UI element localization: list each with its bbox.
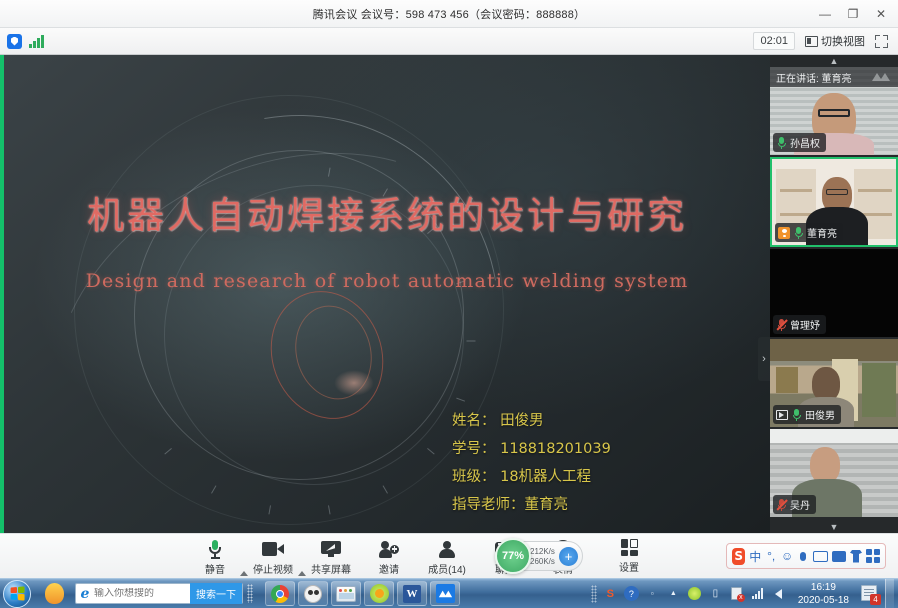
memory-usage-indicator[interactable]: 77%	[495, 538, 531, 574]
microphone-icon	[208, 539, 222, 559]
participant-tile[interactable]: 曾理妤	[770, 249, 898, 337]
settings-label: 设置	[619, 559, 639, 574]
stop-video-button[interactable]: 停止视频	[244, 536, 302, 576]
signal-tray-icon[interactable]	[750, 586, 765, 601]
members-label: 成员(14)	[428, 561, 466, 576]
speed-boost-button[interactable]: +	[559, 547, 578, 566]
share-screen-button[interactable]: 共享屏幕	[302, 536, 360, 576]
mute-label: 静音	[205, 561, 225, 576]
keyboard-icon[interactable]	[813, 548, 828, 564]
layout-icon	[805, 36, 818, 47]
participant-name: 曾理妤	[790, 317, 820, 332]
meeting-sub-toolbar: 02:01 切换视图	[0, 28, 898, 55]
window-controls: — ❐ ✕	[812, 0, 894, 28]
participant-tile[interactable]: 正在讲话: 董育亮 孙昌权	[770, 67, 898, 155]
window-title: 腾讯会议 会议号：598 473 456（会议密码：888888）	[313, 6, 586, 22]
sogou-ime-toolbar[interactable]: S 中 °, ☺	[726, 543, 886, 569]
network-tray-icon[interactable]: ▫	[645, 586, 660, 601]
scroll-up-arrow[interactable]: ▲	[770, 55, 898, 67]
collapse-panel-handle[interactable]: ›	[758, 337, 770, 381]
window-titlebar: 腾讯会议 会议号：598 473 456（会议密码：888888） — ❐ ✕	[0, 0, 898, 28]
taskbar-clock[interactable]: 16:19 2020-05-18	[792, 581, 855, 607]
explorer-icon[interactable]	[331, 581, 361, 606]
taskbar-search-box[interactable]: e 搜索一下	[75, 583, 243, 604]
slide-info-name: 姓名： 田俊男	[452, 407, 611, 435]
slide-info-class: 班级： 18机器人工程	[452, 463, 611, 491]
tray-grip-handle[interactable]	[591, 585, 597, 603]
toolbox-icon[interactable]	[832, 548, 846, 564]
participant-tile-active[interactable]: 董育亮	[770, 157, 898, 247]
participant-label: 孙昌权	[773, 133, 826, 152]
notification-count: 4	[870, 594, 881, 605]
word-icon[interactable]: W	[397, 581, 427, 606]
notification-center-icon[interactable]: 4	[861, 585, 879, 603]
upload-speed-value: 212K/s	[530, 547, 555, 556]
360-tray-icon[interactable]	[687, 586, 702, 601]
meeting-timer: 02:01	[753, 32, 795, 50]
360-security-icon[interactable]	[364, 581, 394, 606]
fullscreen-icon[interactable]	[875, 35, 888, 48]
shared-screen-slide[interactable]: 机器人自动焊接系统的设计与研究 Design and research of r…	[4, 55, 770, 533]
settings-button[interactable]: 设置	[600, 539, 658, 574]
mute-button[interactable]: 静音	[186, 536, 244, 576]
slide-title: 机器人自动焊接系统的设计与研究	[4, 185, 770, 239]
sub-toolbar-left	[0, 34, 44, 49]
sogou-tray-icon[interactable]: S	[603, 586, 618, 601]
sogou-logo-icon[interactable]: S	[732, 548, 745, 565]
system-tray: S ? ▫ ▲ ▯ x	[591, 579, 898, 608]
clock-date: 2020-05-18	[798, 594, 849, 607]
tencent-meeting-window: 腾讯会议 会议号：598 473 456（会议密码：888888） — ❐ ✕ …	[0, 0, 898, 608]
ime-punctuation-toggle[interactable]: °,	[765, 548, 777, 564]
share-screen-icon	[321, 539, 341, 559]
meeting-stage: 机器人自动焊接系统的设计与研究 Design and research of r…	[0, 55, 898, 533]
maximize-button[interactable]: ❐	[840, 3, 866, 25]
view-switch-button[interactable]: 切换视图	[805, 33, 865, 49]
slide-info-block: 姓名： 田俊男 学号： 118818201039 班级： 18机器人工程 指导老…	[452, 407, 611, 519]
minimize-button[interactable]: —	[812, 3, 838, 25]
invite-button[interactable]: 邀请	[360, 536, 418, 576]
close-button[interactable]: ✕	[868, 3, 894, 25]
ime-emoji-icon[interactable]: ☺	[781, 548, 793, 564]
download-speed-value: 260K/s	[530, 557, 555, 566]
device-tray-icon[interactable]: ▯	[708, 586, 723, 601]
settings-grid-icon	[621, 539, 638, 556]
participant-name: 田俊男	[805, 407, 835, 422]
participant-video-strip: ▲ 正在讲话: 董育亮 孙昌权	[770, 55, 898, 533]
signal-bars-icon[interactable]	[29, 35, 44, 48]
up-arrow-tray-icon[interactable]: ▲	[666, 586, 681, 601]
share-screen-label: 共享屏幕	[311, 561, 351, 576]
taskbar-app-buttons: W	[265, 581, 460, 606]
members-button[interactable]: 成员(14)	[418, 536, 476, 576]
slide-info-student-id: 学号： 118818201039	[452, 435, 611, 463]
stop-video-label: 停止视频	[253, 561, 293, 576]
view-switch-label: 切换视图	[821, 33, 865, 49]
slide-info-advisor: 指导老师：董育亮	[452, 491, 611, 519]
tencent-meeting-icon[interactable]	[430, 581, 460, 606]
game-icon[interactable]	[298, 581, 328, 606]
participant-name: 董育亮	[807, 225, 837, 240]
members-icon	[438, 539, 456, 559]
qq-icon[interactable]	[39, 581, 69, 606]
windows-start-orb[interactable]	[3, 580, 31, 608]
skin-icon[interactable]	[850, 548, 862, 564]
host-badge-icon	[778, 227, 790, 239]
microphone-icon[interactable]	[797, 548, 809, 564]
clock-time: 16:19	[798, 581, 849, 594]
microphone-icon	[793, 227, 804, 239]
microphone-muted-icon	[776, 319, 787, 331]
microphone-icon	[776, 137, 787, 149]
shield-icon[interactable]	[7, 34, 22, 49]
taskbar-quick-launch	[39, 581, 69, 606]
antivirus-tray-icon[interactable]: x	[729, 586, 744, 601]
sub-toolbar-right: 02:01 切换视图	[753, 32, 898, 50]
ime-language-toggle[interactable]: 中	[749, 548, 761, 564]
chrome-icon[interactable]	[265, 581, 295, 606]
participant-name: 吴丹	[790, 497, 810, 512]
participant-tile[interactable]: 吴丹	[770, 429, 898, 517]
scroll-down-arrow[interactable]: ▼	[770, 521, 898, 533]
participant-label: 曾理妤	[773, 315, 826, 334]
volume-tray-icon[interactable]	[771, 586, 786, 601]
search-input[interactable]	[94, 588, 190, 599]
participant-label: 董育亮	[775, 223, 843, 242]
microphone-icon	[791, 409, 802, 421]
participant-tile[interactable]: 田俊男	[770, 339, 898, 427]
camera-icon	[262, 539, 284, 559]
invite-icon	[379, 539, 399, 559]
toolbar-grip-handle[interactable]	[247, 584, 253, 603]
microphone-muted-icon	[776, 499, 787, 511]
tencent-meeting-watermark	[870, 70, 892, 83]
screen-share-badge-icon	[776, 410, 788, 420]
slide-subtitle: Design and research of robot automatic w…	[4, 270, 770, 292]
help-tray-icon[interactable]: ?	[624, 586, 639, 601]
apps-grid-icon[interactable]	[866, 548, 880, 564]
show-desktop-button[interactable]	[885, 579, 894, 608]
search-button[interactable]: 搜索一下	[190, 583, 242, 604]
windows-taskbar: e 搜索一下	[0, 578, 898, 608]
participant-label: 吴丹	[773, 495, 816, 514]
participant-name: 孙昌权	[790, 135, 820, 150]
participant-label: 田俊男	[773, 405, 841, 424]
slide-background-decoration	[4, 55, 770, 533]
invite-label: 邀请	[379, 561, 399, 576]
ie-icon: e	[76, 586, 94, 602]
